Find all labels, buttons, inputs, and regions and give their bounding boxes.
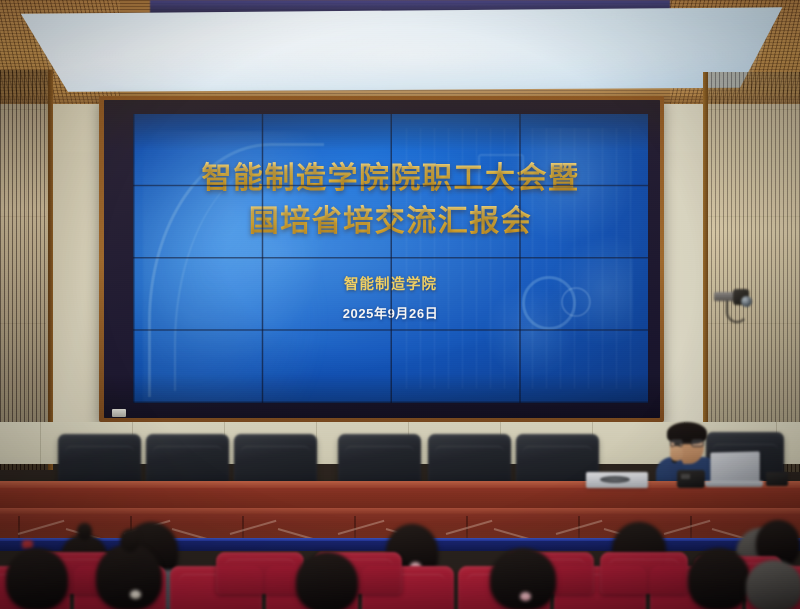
laptop-keyboard-base [705,481,763,487]
wall-camera [714,288,754,314]
wood-slat-wall-left-shading [0,70,50,470]
ceiling-light-glow [0,0,800,110]
wood-slat-wall-right-shading [704,72,800,472]
audience-seat [216,552,304,594]
audience-person [688,548,750,609]
audience-person [746,560,800,609]
glasses-bridge [683,442,691,443]
camera-cable [726,301,748,323]
audience-person [296,552,358,609]
microphone-base [677,470,705,488]
hair-accessory [520,592,531,601]
presenter-hand [670,446,683,461]
conference-hall-photo: 智能制造学院院职工大会暨 国培省培交流汇报会 智能制造学院 2025年9月26日 [0,0,800,609]
audience-railing-cap [0,508,800,514]
screen-label-sticker [112,409,126,417]
screen-bezel-shading [104,100,660,418]
laptop-screen [710,451,759,482]
audience-person [6,548,68,609]
glasses-lens-right [691,439,704,447]
wood-trim-right [703,72,708,472]
desk-device [766,472,788,486]
hair-accessory [130,590,141,599]
laptop [705,452,761,486]
audience-seat [600,552,688,594]
wood-trim-left [48,70,53,470]
document-stack [586,472,648,488]
audience-person [96,544,162,609]
